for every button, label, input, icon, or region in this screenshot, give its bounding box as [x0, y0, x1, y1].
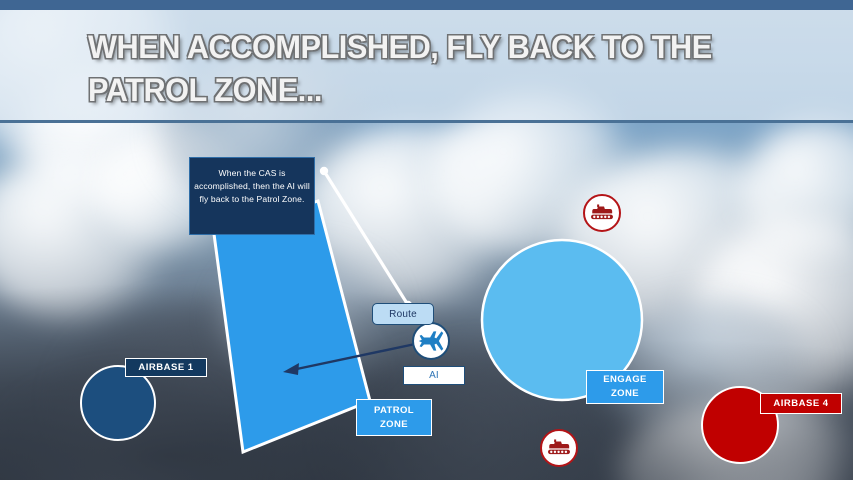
ai-label: AI — [403, 366, 465, 385]
tank-icon — [589, 200, 615, 226]
ai-aircraft-marker[interactable] — [412, 322, 450, 360]
patrol-zone-label: PATROL ZONE — [356, 399, 432, 436]
fighter-jet-icon — [417, 327, 445, 355]
flight-direction-arrow — [283, 343, 420, 375]
airbase-1-label: AIRBASE 1 — [125, 358, 207, 377]
route-leader-line — [320, 167, 412, 309]
route-label: Route — [372, 303, 434, 325]
ground-target-marker-2[interactable] — [540, 429, 578, 467]
ground-target-marker-1[interactable] — [583, 194, 621, 232]
callout-textbox: When the CAS is accomplished, then the A… — [189, 157, 315, 235]
presentation-slide: WHEN ACCOMPLISHED, FLY BACK TO THE PATRO… — [0, 0, 853, 480]
airbase-4-label: AIRBASE 4 — [760, 393, 842, 414]
tank-icon — [546, 435, 572, 461]
engage-zone-label: ENGAGE ZONE — [586, 370, 664, 404]
